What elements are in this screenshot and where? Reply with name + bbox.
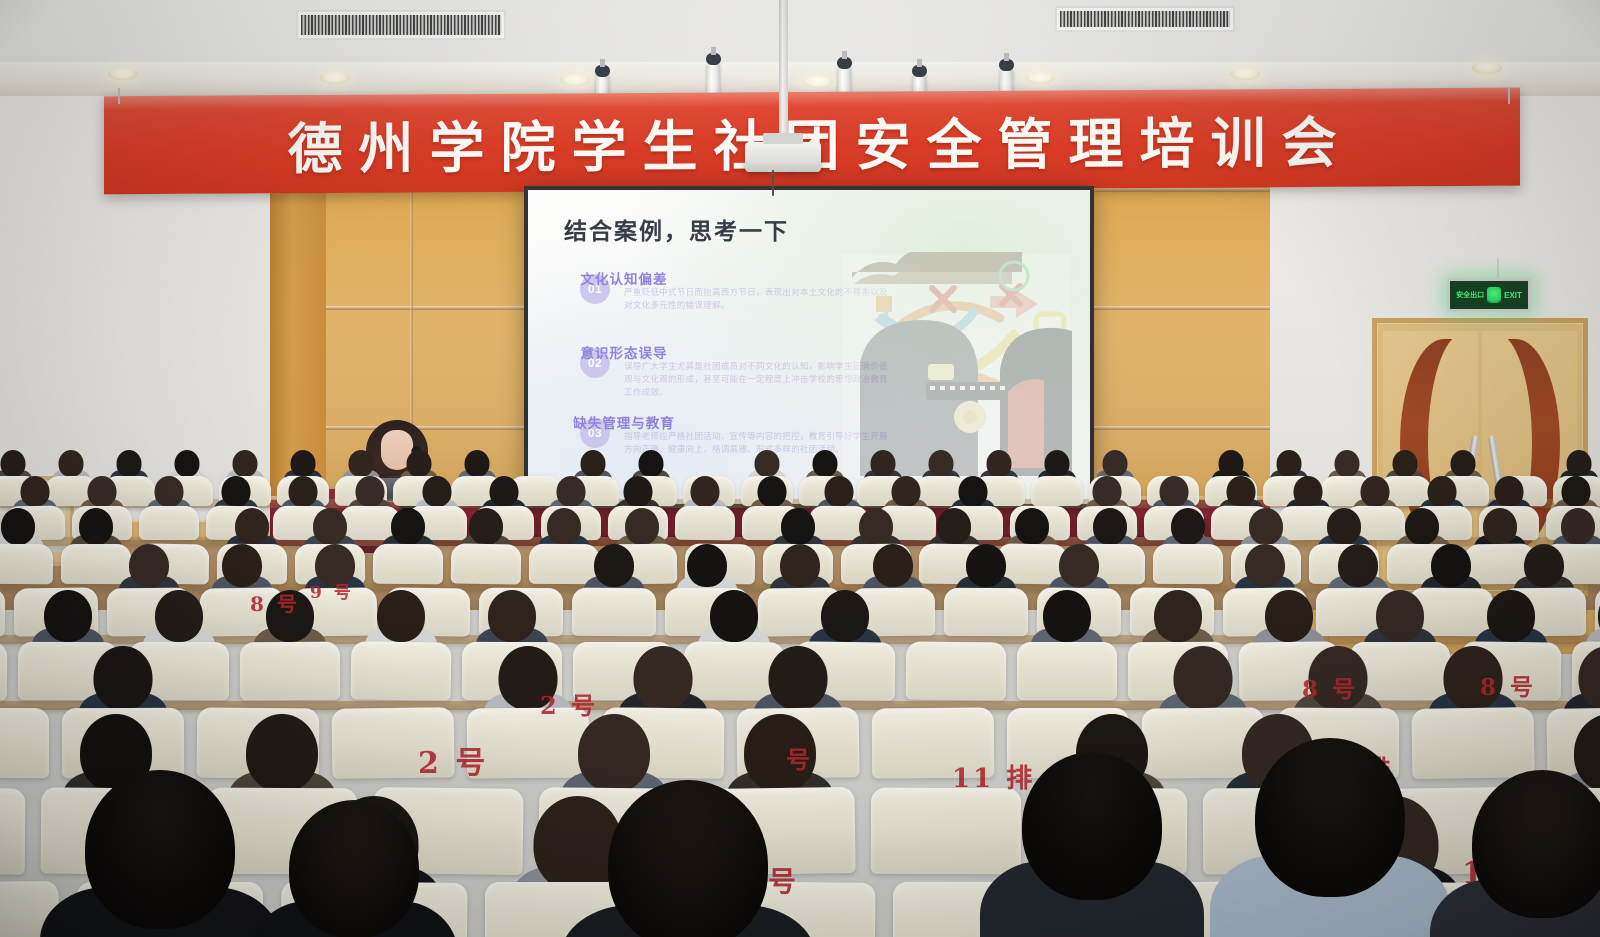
audience-member-head <box>1015 508 1049 545</box>
audience-member-head <box>1472 770 1600 918</box>
audience-member-head <box>859 508 893 545</box>
audience-member-head <box>690 476 719 507</box>
audience-member-head <box>625 508 659 545</box>
audience-member-head <box>1431 544 1471 587</box>
recessed-downlight <box>560 74 590 86</box>
audience-member-head <box>1494 476 1523 507</box>
audience-member-head <box>87 476 116 507</box>
audience-member-head <box>59 450 84 477</box>
projector-cable <box>772 170 774 196</box>
audience-member-head <box>288 476 317 507</box>
audience-member-foreground <box>250 800 458 937</box>
audience-member-head <box>155 590 203 642</box>
audience-member-head <box>813 450 838 477</box>
audience-member-head <box>85 770 235 929</box>
audience-member-head <box>1277 450 1302 477</box>
auditorium-seat[interactable] <box>1031 476 1083 506</box>
exit-sign-en-label: EXIT <box>1504 291 1522 300</box>
recessed-downlight <box>1472 62 1502 74</box>
audience-member-head <box>1171 508 1205 545</box>
audience-member-head <box>1093 508 1127 545</box>
auditorium-seat[interactable] <box>0 708 49 778</box>
audience-member-head <box>1 508 35 545</box>
audience-member-head <box>755 450 780 477</box>
exit-sign-cable <box>1497 258 1499 280</box>
audience-member-head <box>633 646 692 710</box>
audience-member-head <box>1103 450 1128 477</box>
event-banner: 德州学院学生社团安全管理培训会 <box>104 88 1520 195</box>
seat-label: 号 <box>786 740 813 775</box>
audience-member-head <box>1173 646 1232 710</box>
auditorium-seat[interactable] <box>373 544 443 585</box>
auditorium-seat[interactable] <box>906 642 1007 701</box>
audience-member-head <box>488 590 536 642</box>
audience-member-foreground <box>1430 770 1600 937</box>
slide-bullet-heading: 文化认知偏差 <box>581 268 668 288</box>
audience-member-head <box>824 476 853 507</box>
auditorium-seat[interactable] <box>240 642 340 701</box>
audience-member-head <box>1451 450 1476 477</box>
banner-rope <box>1508 88 1510 104</box>
audience-member-head <box>349 450 374 477</box>
audience-member-head <box>547 508 581 545</box>
auditorium-seat[interactable] <box>944 588 1028 636</box>
seat-label: 2 号 <box>418 738 488 782</box>
audience-member-head <box>556 476 585 507</box>
audience-member-head <box>1226 476 1255 507</box>
lecture-hall-photo: 安全出口 EXIT 德州学院学生社团安全管理培训会 结合案例，思考一下 01 文 <box>0 0 1600 937</box>
recessed-downlight <box>803 76 833 88</box>
audience-member-head <box>710 590 758 642</box>
audience-member-head <box>1022 752 1162 900</box>
audience-member-head <box>623 476 652 507</box>
banner-rope <box>118 88 120 104</box>
audience-member-head <box>1561 508 1595 545</box>
audience-member-head <box>289 800 419 937</box>
audience-member-head <box>594 544 634 587</box>
audience-member-head <box>1567 450 1592 477</box>
audience-member-head <box>175 450 200 477</box>
audience-member-head <box>129 544 169 587</box>
audience-member-head <box>958 476 987 507</box>
audience-member-head <box>20 476 49 507</box>
audience-member-head <box>1376 590 1424 642</box>
audience-member-head <box>1561 476 1590 507</box>
audience-member-head <box>1045 450 1070 477</box>
audience-member-head <box>1483 508 1517 545</box>
audience-seating: 2 号2 号8 号9 号8 号8 号11 排11 排12 排12 排号号 <box>0 470 1600 937</box>
cross-cultural-graphic <box>840 252 1072 480</box>
slide-title: 结合案例，思考一下 <box>564 212 789 246</box>
recessed-downlight <box>108 68 138 80</box>
audience-member-head <box>465 450 490 477</box>
auditorium-seat[interactable] <box>1153 544 1223 584</box>
audience-member-head <box>1338 544 1378 587</box>
air-vent-grille <box>296 10 506 40</box>
audience-member-head <box>233 450 258 477</box>
recessed-downlight <box>1025 72 1055 84</box>
recessed-downlight <box>1230 68 1260 80</box>
audience-member-head <box>377 590 425 642</box>
auditorium-seat[interactable] <box>0 544 53 585</box>
audience-member-head <box>1293 476 1322 507</box>
seat-label: 9 号 <box>310 578 354 603</box>
audience-member-head <box>1219 450 1244 477</box>
audience-member-head <box>639 450 664 477</box>
audience-member-head <box>235 508 269 545</box>
auditorium-seat[interactable] <box>0 642 8 701</box>
slide-bullet-heading: 意识形态误导 <box>581 342 668 362</box>
event-banner-title: 德州学院学生社团安全管理培训会 <box>104 88 1520 195</box>
audience-member-head <box>422 476 451 507</box>
ceiling-projector <box>745 142 821 172</box>
audience-member-head <box>1245 544 1285 587</box>
audience-member-head <box>313 508 347 545</box>
audience-member-head <box>355 476 384 507</box>
audience-member-head <box>221 476 250 507</box>
slide-bullet-heading: 缺失管理与教育 <box>573 412 675 432</box>
seat-label: 8 号 <box>250 588 300 617</box>
auditorium-seat[interactable] <box>139 506 199 540</box>
audience-member-head <box>117 450 142 477</box>
emergency-exit-sign: 安全出口 EXIT <box>1447 278 1531 312</box>
audience-member-head <box>966 544 1006 587</box>
auditorium-seat[interactable] <box>0 587 5 636</box>
audience-member-foreground <box>560 780 816 937</box>
audience-member-head <box>1487 590 1535 642</box>
audience-member-head <box>489 476 518 507</box>
exit-sign-cn-label: 安全出口 <box>1456 292 1484 299</box>
audience-member-head <box>1154 590 1202 642</box>
audience-member-head <box>1335 450 1360 477</box>
audience-member-head <box>1059 544 1099 587</box>
audience-member-head <box>1427 476 1456 507</box>
seat-label: 8 号 <box>1302 670 1358 704</box>
audience-member-head <box>1249 508 1283 545</box>
recessed-downlight <box>320 72 350 84</box>
auditorium-seat[interactable] <box>675 506 735 541</box>
audience-member-head <box>781 508 815 545</box>
auditorium-seat[interactable] <box>0 787 25 874</box>
audience-member-head <box>1405 508 1439 545</box>
audience-member-head <box>757 476 786 507</box>
audience-member-foreground <box>40 770 280 937</box>
seat-label: 8 号 <box>1480 668 1536 702</box>
running-man-icon <box>1487 287 1501 303</box>
audience-member-head <box>222 544 262 587</box>
audience-member-head <box>154 476 183 507</box>
audience-member-head <box>1327 508 1361 545</box>
audience-member-head <box>1092 476 1121 507</box>
auditorium-seat[interactable] <box>451 543 522 584</box>
audience-member-head <box>929 450 954 477</box>
audience-member-head <box>780 544 820 587</box>
audience-member-head <box>1159 476 1188 507</box>
audience-member-head <box>291 450 316 477</box>
audience-member-head <box>407 450 432 477</box>
audience-member-head <box>391 508 425 545</box>
audience-member-head <box>987 450 1012 477</box>
audience-member-foreground <box>980 752 1204 937</box>
auditorium-seat[interactable] <box>351 641 452 700</box>
audience-member-head <box>871 450 896 477</box>
audience-member-head <box>821 590 869 642</box>
audience-member-head <box>937 508 971 545</box>
auditorium-seat[interactable] <box>571 588 655 637</box>
audience-member-head <box>873 544 913 587</box>
audience-member-head <box>469 508 503 545</box>
auditorium-seat[interactable] <box>1017 642 1117 700</box>
audience-member-head <box>687 544 727 587</box>
audience-member-head <box>1265 590 1313 642</box>
audience-member-head <box>891 476 920 507</box>
audience-member-head <box>1360 476 1389 507</box>
projector-mount-pole <box>779 0 788 152</box>
audience-member-head <box>581 450 606 477</box>
audience-member-head <box>1255 738 1405 897</box>
seat-label: 2 号 <box>540 686 598 721</box>
audience-member-head <box>768 646 827 710</box>
air-vent-grille-2 <box>1055 6 1235 32</box>
audience-member-head <box>1393 450 1418 477</box>
audience-member-head <box>608 780 768 937</box>
audience-member-head <box>79 508 113 545</box>
audience-member-head <box>1 450 26 477</box>
audience-member-head <box>1043 590 1091 642</box>
audience-member-head <box>93 646 152 710</box>
audience-member-head <box>1524 544 1564 587</box>
audience-member-foreground <box>1210 738 1450 937</box>
audience-member-head <box>44 590 92 642</box>
